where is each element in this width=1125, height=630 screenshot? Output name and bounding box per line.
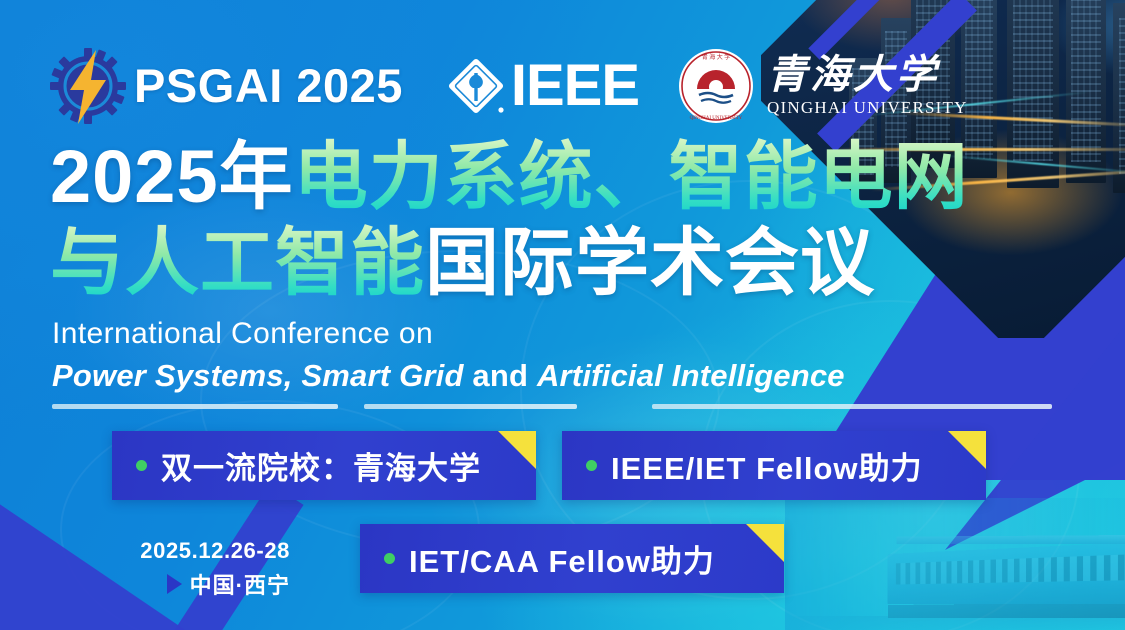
subtitle-line-1: International Conference on	[52, 314, 1092, 354]
event-datetime-block: 2025.12.26-28 中国·西宁	[118, 536, 290, 600]
highlight-pill-ieee-iet: IEEE/IET Fellow助力	[562, 431, 986, 500]
green-dot-icon	[586, 460, 597, 471]
main-title: 2025年电力系统、智能电网 与人工智能国际学术会议	[50, 134, 1085, 306]
qinghai-university-logo: 青 海 大 学 QINGHAI UNIVERSITY 青海大学 QINGHAI …	[677, 47, 968, 125]
event-date: 2025.12.26-28	[118, 536, 290, 566]
pill-label-ieee-iet: IEEE/IET Fellow助力	[611, 443, 923, 488]
event-location: 中国·西宁	[190, 568, 290, 600]
qinghai-names: 青海大学 QINGHAI UNIVERSITY	[767, 54, 968, 118]
underline-1	[52, 404, 338, 409]
pill-label-university: 双一流院校：青海大学	[161, 443, 481, 488]
psgai-wordmark: PSGAI 2025	[134, 46, 403, 126]
title-line2-white: 国际学术会议	[425, 221, 875, 304]
gear-lightning-icon	[48, 46, 128, 126]
yellow-corner-flag	[498, 431, 536, 469]
conference-banner: PSGAI 2025 IEEE	[0, 0, 1125, 630]
subtitle-line-2: Power Systems, Smart Grid and Artificial…	[52, 354, 1092, 398]
highlight-pill-iet-caa: IET/CAA Fellow助力	[360, 524, 784, 593]
english-subtitle: International Conference on Power System…	[52, 314, 1092, 409]
svg-text:青 海 大 学: 青 海 大 学	[702, 53, 731, 61]
title-year: 2025年	[50, 135, 294, 218]
logo-row: PSGAI 2025 IEEE	[48, 40, 968, 132]
green-dot-icon	[136, 460, 147, 471]
subtitle-ai: Artificial Intelligence	[537, 358, 845, 393]
triangle-marker-icon	[167, 574, 182, 594]
yellow-corner-flag	[948, 431, 986, 469]
underline-2	[364, 404, 577, 409]
psgai-logo	[48, 46, 128, 126]
train-photo	[785, 498, 1125, 630]
pill-label-iet-caa: IET/CAA Fellow助力	[409, 536, 715, 581]
svg-text:QINGHAI UNIVERSITY: QINGHAI UNIVERSITY	[690, 116, 743, 121]
subtitle-and: and	[464, 358, 537, 393]
qinghai-name-en: QINGHAI UNIVERSITY	[767, 98, 968, 118]
ieee-diamond-icon	[445, 55, 507, 117]
title-line2-green: 与人工智能	[50, 221, 425, 304]
green-dot-icon	[384, 553, 395, 564]
yellow-corner-flag	[746, 524, 784, 562]
title-line-2: 与人工智能国际学术会议	[50, 220, 1085, 306]
title-line-1: 2025年电力系统、智能电网	[50, 134, 1085, 220]
subtitle-underlines	[52, 404, 1092, 409]
event-location-row: 中国·西宁	[118, 568, 290, 600]
title-line1-green: 电力系统、智能电网	[294, 135, 969, 218]
highlight-pill-university: 双一流院校：青海大学	[112, 431, 536, 500]
ieee-logo: IEEE	[445, 55, 639, 117]
ieee-wordmark: IEEE	[511, 55, 639, 117]
underline-3	[652, 404, 1052, 409]
qinghai-name-cn: 青海大学	[767, 54, 968, 96]
qinghai-university-seal-icon: 青 海 大 学 QINGHAI UNIVERSITY	[677, 47, 755, 125]
train-blue-tint	[785, 498, 1125, 630]
subtitle-power-systems: Power Systems, Smart Grid	[52, 358, 464, 393]
